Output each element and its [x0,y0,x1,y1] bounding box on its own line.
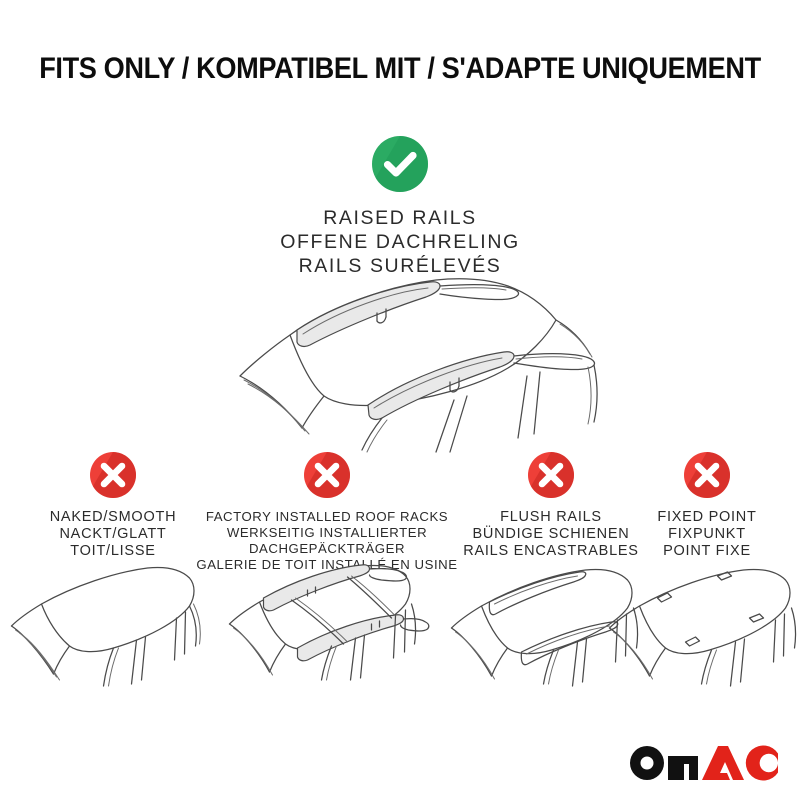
label-fr: RAILS ENCASTRABLES [452,543,650,560]
page-title: FITS ONLY / KOMPATIBEL MIT / S'ADAPTE UN… [32,52,768,86]
x-circle-icon [528,452,574,498]
x-circle-icon [684,452,730,498]
compatible-section: RAISED RAILS OFFENE DACHRELING RAILS SUR… [0,136,800,278]
label-de-1: WERKSEITIG INSTALLIERTER [190,525,464,541]
incompatible-labels-fixed-point: FIXED POINT FIXPUNKT POINT FIXE [628,509,786,560]
incompatible-item-naked-smooth: NAKED/SMOOTH NACKT/GLATT TOIT/LISSE [28,452,198,560]
incompatible-labels-flush-rails: FLUSH RAILS BÜNDIGE SCHIENEN RAILS ENCAS… [452,509,650,560]
label-fr: TOIT/LISSE [28,543,198,560]
label-fr: POINT FIXE [628,543,786,560]
compatible-label-de: OFFENE DACHRELING [0,230,800,254]
label-de: FIXPUNKT [628,526,786,543]
check-circle-icon [372,136,428,192]
car-roof-fixed-point-illustration [600,560,800,690]
car-roof-raised-rails-illustration [178,272,628,452]
label-en: FACTORY INSTALLED ROOF RACKS [190,509,464,525]
compatible-label-en: RAISED RAILS [0,206,800,230]
incompatible-labels-naked-smooth: NAKED/SMOOTH NACKT/GLATT TOIT/LISSE [28,509,198,560]
label-de: NACKT/GLATT [28,526,198,543]
logo-letter-a [702,746,744,780]
car-roof-naked-illustration [6,560,221,690]
compatible-labels: RAISED RAILS OFFENE DACHRELING RAILS SUR… [0,206,800,278]
incompatible-section: NAKED/SMOOTH NACKT/GLATT TOIT/LISSE [0,452,800,712]
car-roof-factory-racks-illustration [220,552,435,682]
omac-logo [628,744,780,782]
logo-letter-c [746,746,778,781]
label-de: BÜNDIGE SCHIENEN [452,526,650,543]
logo-letter-o [630,746,664,780]
incompatible-item-flush-rails: FLUSH RAILS BÜNDIGE SCHIENEN RAILS ENCAS… [452,452,650,560]
label-en: FIXED POINT [628,509,786,526]
label-en: NAKED/SMOOTH [28,509,198,526]
x-circle-icon [304,452,350,498]
incompatible-item-fixed-point: FIXED POINT FIXPUNKT POINT FIXE [628,452,786,560]
incompatible-item-factory-roof-racks: FACTORY INSTALLED ROOF RACKS WERKSEITIG … [190,452,464,573]
x-circle-icon [90,452,136,498]
label-en: FLUSH RAILS [452,509,650,526]
